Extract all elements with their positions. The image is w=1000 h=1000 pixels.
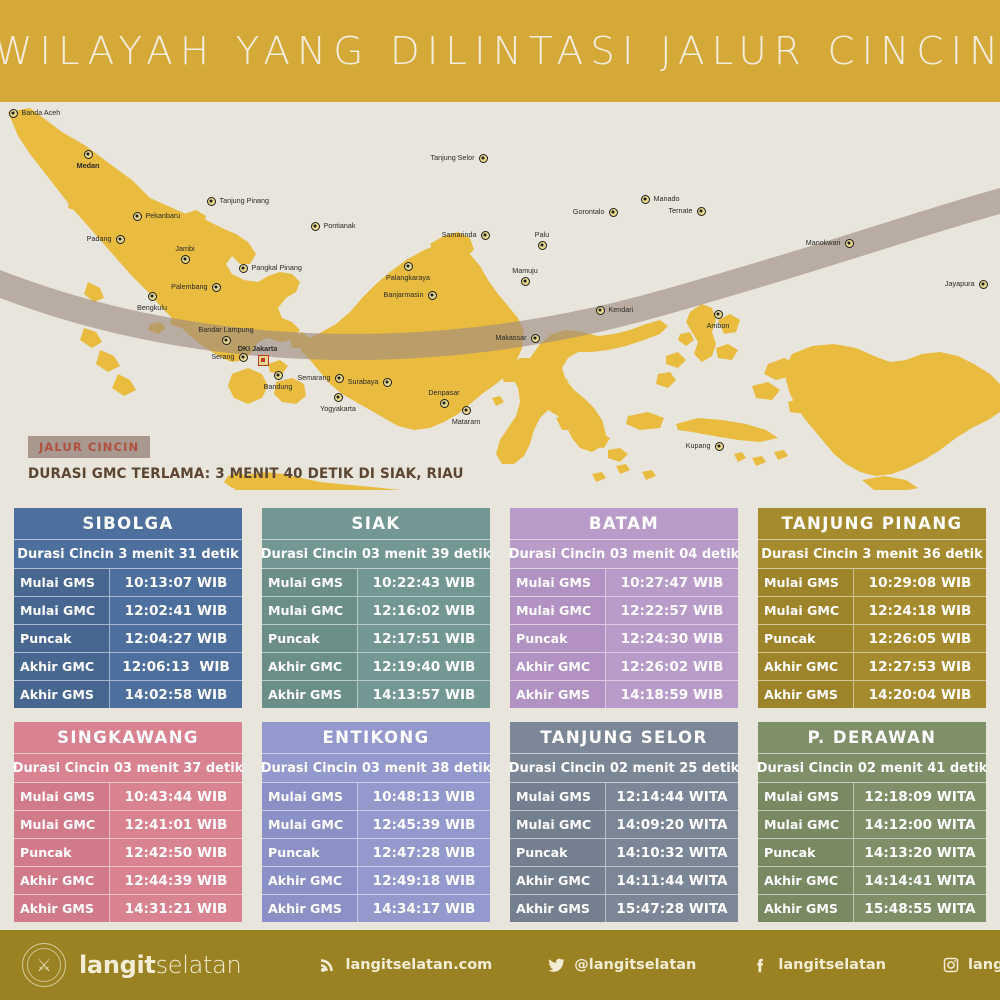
- row-label: Puncak: [262, 839, 358, 866]
- row-label: Puncak: [510, 625, 606, 652]
- table-row: Akhir GMC12:27:53 WIB: [758, 653, 986, 681]
- card-title: SINGKAWANG: [14, 722, 242, 754]
- table-row: Puncak12:42:50 WIB: [14, 839, 242, 867]
- row-label: Puncak: [758, 625, 854, 652]
- table-row: Mulai GMC12:22:57 WIB: [510, 597, 738, 625]
- card-title: SIAK: [262, 508, 490, 540]
- card-title: TANJUNG SELOR: [510, 722, 738, 754]
- twitter-icon: [548, 957, 565, 974]
- row-value: 12:17:51 WIB: [358, 625, 490, 652]
- card-rows: Mulai GMS10:27:47 WIBMulai GMC12:22:57 W…: [510, 569, 738, 708]
- table-row: Mulai GMS10:48:13 WIB: [262, 783, 490, 811]
- row-label: Puncak: [262, 625, 358, 652]
- card-subtitle: Durasi Cincin 02 menit 25 detik: [510, 754, 738, 783]
- table-row: Mulai GMC14:09:20 WITA: [510, 811, 738, 839]
- row-label: Akhir GMS: [510, 681, 606, 708]
- row-value: 12:19:40 WIB: [358, 653, 490, 680]
- table-row: Mulai GMC12:24:18 WIB: [758, 597, 986, 625]
- infographic-page: WILAYAH YANG DILINTASI JALUR CINCIN: [0, 0, 1000, 1000]
- table-row: Mulai GMS10:43:44 WIB: [14, 783, 242, 811]
- social-label: langitselatanmedia: [968, 957, 1000, 973]
- row-label: Mulai GMS: [262, 569, 358, 596]
- row-label: Akhir GMS: [510, 895, 606, 922]
- row-label: Puncak: [510, 839, 606, 866]
- row-value: 10:22:43 WIB: [358, 569, 490, 596]
- instagram-icon: [942, 957, 959, 974]
- row-value: 14:14:41 WITA: [854, 867, 986, 894]
- card-subtitle: Durasi Cincin 03 menit 04 detik: [510, 540, 738, 569]
- table-row: Mulai GMS10:27:47 WIB: [510, 569, 738, 597]
- row-value: 12:14:44 WITA: [606, 783, 738, 810]
- row-label: Akhir GMC: [510, 867, 606, 894]
- row-value: 14:20:04 WIB: [854, 681, 986, 708]
- row-value: 12:26:02 WIB: [606, 653, 738, 680]
- timing-card: TANJUNG PINANGDurasi Cincin 3 menit 36 d…: [758, 508, 986, 708]
- table-row: Puncak12:17:51 WIB: [262, 625, 490, 653]
- timing-card: TANJUNG SELORDurasi Cincin 02 menit 25 d…: [510, 722, 738, 922]
- table-row: Akhir GMS15:47:28 WITA: [510, 895, 738, 922]
- row-value: 10:48:13 WIB: [358, 783, 490, 810]
- row-label: Akhir GMC: [262, 653, 358, 680]
- card-subtitle: Durasi Cincin 02 menit 41 detik: [758, 754, 986, 783]
- timing-card: SIAKDurasi Cincin 03 menit 39 detikMulai…: [262, 508, 490, 708]
- row-value: 12:47:28 WIB: [358, 839, 490, 866]
- row-label: Mulai GMC: [510, 811, 606, 838]
- table-row: Mulai GMS10:22:43 WIB: [262, 569, 490, 597]
- row-label: Akhir GMC: [510, 653, 606, 680]
- social-label: @langitselatan: [574, 957, 696, 973]
- row-label: Akhir GMC: [14, 653, 110, 680]
- row-label: Mulai GMS: [510, 783, 606, 810]
- row-value: 12:16:02 WIB: [358, 597, 490, 624]
- timing-card: BATAMDurasi Cincin 03 menit 04 detikMula…: [510, 508, 738, 708]
- row-value: 12:41:01 WIB: [110, 811, 242, 838]
- horse-rider-icon: ⚔: [36, 957, 51, 974]
- table-row: Mulai GMC12:41:01 WIB: [14, 811, 242, 839]
- page-header: WILAYAH YANG DILINTASI JALUR CINCIN: [0, 0, 1000, 102]
- row-value: 14:18:59 WIB: [606, 681, 738, 708]
- table-row: Akhir GMC12:44:39 WIB: [14, 867, 242, 895]
- table-row: Puncak12:47:28 WIB: [262, 839, 490, 867]
- row-label: Mulai GMC: [758, 811, 854, 838]
- brand-bold-part: langit: [79, 951, 156, 979]
- row-value: 14:34:17 WIB: [358, 895, 490, 922]
- legend-jalur-cincin: JALUR CINCIN: [28, 436, 150, 458]
- row-value: 12:24:30 WIB: [606, 625, 738, 652]
- table-row: Akhir GMS14:18:59 WIB: [510, 681, 738, 708]
- row-label: Mulai GMS: [14, 569, 110, 596]
- row-value: 12:02:41 WIB: [110, 597, 242, 624]
- social-links: langitselatan.com@langitselatanlangitsel…: [319, 957, 1000, 974]
- row-value: 14:10:32 WITA: [606, 839, 738, 866]
- card-rows: Mulai GMS10:22:43 WIBMulai GMC12:16:02 W…: [262, 569, 490, 708]
- table-row: Puncak14:10:32 WITA: [510, 839, 738, 867]
- card-title: ENTIKONG: [262, 722, 490, 754]
- card-rows: Mulai GMS10:43:44 WIBMulai GMC12:41:01 W…: [14, 783, 242, 922]
- row-label: Puncak: [14, 839, 110, 866]
- social-label: langitselatan.com: [345, 957, 492, 973]
- row-label: Mulai GMC: [14, 597, 110, 624]
- row-label: Mulai GMC: [758, 597, 854, 624]
- row-value: 12:44:39 WIB: [110, 867, 242, 894]
- card-title: SIBOLGA: [14, 508, 242, 540]
- timing-card: ENTIKONGDurasi Cincin 03 menit 38 detikM…: [262, 722, 490, 922]
- table-row: Mulai GMC12:16:02 WIB: [262, 597, 490, 625]
- row-value: 14:13:20 WITA: [854, 839, 986, 866]
- table-row: Mulai GMS12:14:44 WITA: [510, 783, 738, 811]
- card-rows: Mulai GMS10:29:08 WIBMulai GMC12:24:18 W…: [758, 569, 986, 708]
- row-value: 14:09:20 WITA: [606, 811, 738, 838]
- social-link-instagram[interactable]: langitselatanmedia: [942, 957, 1000, 974]
- row-label: Akhir GMS: [14, 681, 110, 708]
- facebook-icon: [752, 957, 769, 974]
- row-label: Mulai GMS: [510, 569, 606, 596]
- card-title: BATAM: [510, 508, 738, 540]
- row-value: 12:06:13 WIB: [110, 653, 242, 680]
- row-value: 15:48:55 WITA: [854, 895, 986, 922]
- page-title: WILAYAH YANG DILINTASI JALUR CINCIN: [0, 29, 1000, 73]
- langitselatan-seal-logo: ⚔: [22, 943, 66, 987]
- card-rows: Mulai GMS12:14:44 WITAMulai GMC14:09:20 …: [510, 783, 738, 922]
- table-row: Puncak12:04:27 WIB: [14, 625, 242, 653]
- row-label: Mulai GMC: [510, 597, 606, 624]
- card-subtitle: Durasi Cincin 03 menit 37 detik: [14, 754, 242, 783]
- row-value: 12:04:27 WIB: [110, 625, 242, 652]
- row-label: Mulai GMS: [262, 783, 358, 810]
- row-label: Akhir GMC: [14, 867, 110, 894]
- card-subtitle: Durasi Cincin 03 menit 38 detik: [262, 754, 490, 783]
- page-footer: ⚔ langitselatan langitselatan.com@langit…: [0, 930, 1000, 1000]
- row-value: 12:45:39 WIB: [358, 811, 490, 838]
- row-value: 12:24:18 WIB: [854, 597, 986, 624]
- row-value: 14:13:57 WIB: [358, 681, 490, 708]
- table-row: Akhir GMS14:34:17 WIB: [262, 895, 490, 922]
- row-value: 12:42:50 WIB: [110, 839, 242, 866]
- row-label: Akhir GMS: [262, 681, 358, 708]
- social-link-twitter[interactable]: @langitselatan: [548, 957, 696, 974]
- row-value: 10:13:07 WIB: [110, 569, 242, 596]
- row-value: 15:47:28 WITA: [606, 895, 738, 922]
- table-row: Akhir GMC12:26:02 WIB: [510, 653, 738, 681]
- rss-icon: [319, 957, 336, 974]
- row-value: 12:22:57 WIB: [606, 597, 738, 624]
- map-legend: JALUR CINCIN DURASI GMC TERLAMA: 3 MENIT…: [28, 436, 496, 482]
- table-row: Puncak12:26:05 WIB: [758, 625, 986, 653]
- row-label: Mulai GMS: [758, 783, 854, 810]
- table-row: Mulai GMC12:02:41 WIB: [14, 597, 242, 625]
- table-row: Akhir GMS15:48:55 WITA: [758, 895, 986, 922]
- social-link-rss[interactable]: langitselatan.com: [319, 957, 492, 974]
- table-row: Akhir GMC14:14:41 WITA: [758, 867, 986, 895]
- row-label: Akhir GMS: [758, 895, 854, 922]
- card-rows: Mulai GMS12:18:09 WITAMulai GMC14:12:00 …: [758, 783, 986, 922]
- card-subtitle: Durasi Cincin 03 menit 39 detik: [262, 540, 490, 569]
- row-label: Mulai GMC: [14, 811, 110, 838]
- table-row: Akhir GMC12:06:13 WIB: [14, 653, 242, 681]
- social-link-facebook[interactable]: langitselatan: [752, 957, 886, 974]
- legend-duration-note: DURASI GMC TERLAMA: 3 MENIT 40 DETIK DI …: [28, 466, 464, 482]
- card-rows: Mulai GMS10:13:07 WIBMulai GMC12:02:41 W…: [14, 569, 242, 708]
- table-row: Akhir GMS14:13:57 WIB: [262, 681, 490, 708]
- city-timing-cards: SIBOLGADurasi Cincin 3 menit 31 detikMul…: [0, 508, 1000, 922]
- row-value: 12:27:53 WIB: [854, 653, 986, 680]
- row-label: Akhir GMS: [262, 895, 358, 922]
- table-row: Mulai GMC12:45:39 WIB: [262, 811, 490, 839]
- table-row: Akhir GMC12:19:40 WIB: [262, 653, 490, 681]
- card-subtitle: Durasi Cincin 3 menit 36 detik: [758, 540, 986, 569]
- table-row: Puncak12:24:30 WIB: [510, 625, 738, 653]
- row-label: Mulai GMC: [262, 811, 358, 838]
- social-label: langitselatan: [778, 957, 886, 973]
- table-row: Mulai GMS10:29:08 WIB: [758, 569, 986, 597]
- table-row: Akhir GMC12:49:18 WIB: [262, 867, 490, 895]
- row-value: 10:29:08 WIB: [854, 569, 986, 596]
- table-row: Puncak14:13:20 WITA: [758, 839, 986, 867]
- row-value: 14:11:44 WITA: [606, 867, 738, 894]
- row-label: Mulai GMS: [14, 783, 110, 810]
- row-label: Mulai GMC: [262, 597, 358, 624]
- brand-wordmark: langitselatan: [79, 951, 241, 979]
- row-label: Mulai GMS: [758, 569, 854, 596]
- timing-card: P. DERAWANDurasi Cincin 02 menit 41 deti…: [758, 722, 986, 922]
- timing-card: SIBOLGADurasi Cincin 3 menit 31 detikMul…: [14, 508, 242, 708]
- table-row: Akhir GMC14:11:44 WITA: [510, 867, 738, 895]
- row-value: 14:31:21 WIB: [110, 895, 242, 922]
- row-value: 10:27:47 WIB: [606, 569, 738, 596]
- row-value: 14:02:58 WIB: [110, 681, 242, 708]
- card-rows: Mulai GMS10:48:13 WIBMulai GMC12:45:39 W…: [262, 783, 490, 922]
- indonesia-map: Banda AcehMedanTanjung PinangPekanbaruPa…: [0, 102, 1000, 490]
- row-label: Akhir GMC: [262, 867, 358, 894]
- row-label: Akhir GMS: [14, 895, 110, 922]
- row-label: Puncak: [14, 625, 110, 652]
- table-row: Akhir GMS14:20:04 WIB: [758, 681, 986, 708]
- row-label: Akhir GMS: [758, 681, 854, 708]
- card-title: P. DERAWAN: [758, 722, 986, 754]
- row-value: 10:43:44 WIB: [110, 783, 242, 810]
- row-value: 12:49:18 WIB: [358, 867, 490, 894]
- row-value: 14:12:00 WITA: [854, 811, 986, 838]
- table-row: Mulai GMC14:12:00 WITA: [758, 811, 986, 839]
- row-label: Akhir GMC: [758, 653, 854, 680]
- table-row: Mulai GMS12:18:09 WITA: [758, 783, 986, 811]
- card-subtitle: Durasi Cincin 3 menit 31 detik: [14, 540, 242, 569]
- map-graphic: [0, 102, 1000, 490]
- row-label: Puncak: [758, 839, 854, 866]
- card-title: TANJUNG PINANG: [758, 508, 986, 540]
- row-value: 12:26:05 WIB: [854, 625, 986, 652]
- table-row: Mulai GMS10:13:07 WIB: [14, 569, 242, 597]
- brand-light-part: selatan: [156, 951, 242, 979]
- table-row: Akhir GMS14:02:58 WIB: [14, 681, 242, 708]
- row-value: 12:18:09 WITA: [854, 783, 986, 810]
- row-label: Akhir GMC: [758, 867, 854, 894]
- brand-block: ⚔ langitselatan: [22, 943, 241, 987]
- timing-card: SINGKAWANGDurasi Cincin 03 menit 37 deti…: [14, 722, 242, 922]
- table-row: Akhir GMS14:31:21 WIB: [14, 895, 242, 922]
